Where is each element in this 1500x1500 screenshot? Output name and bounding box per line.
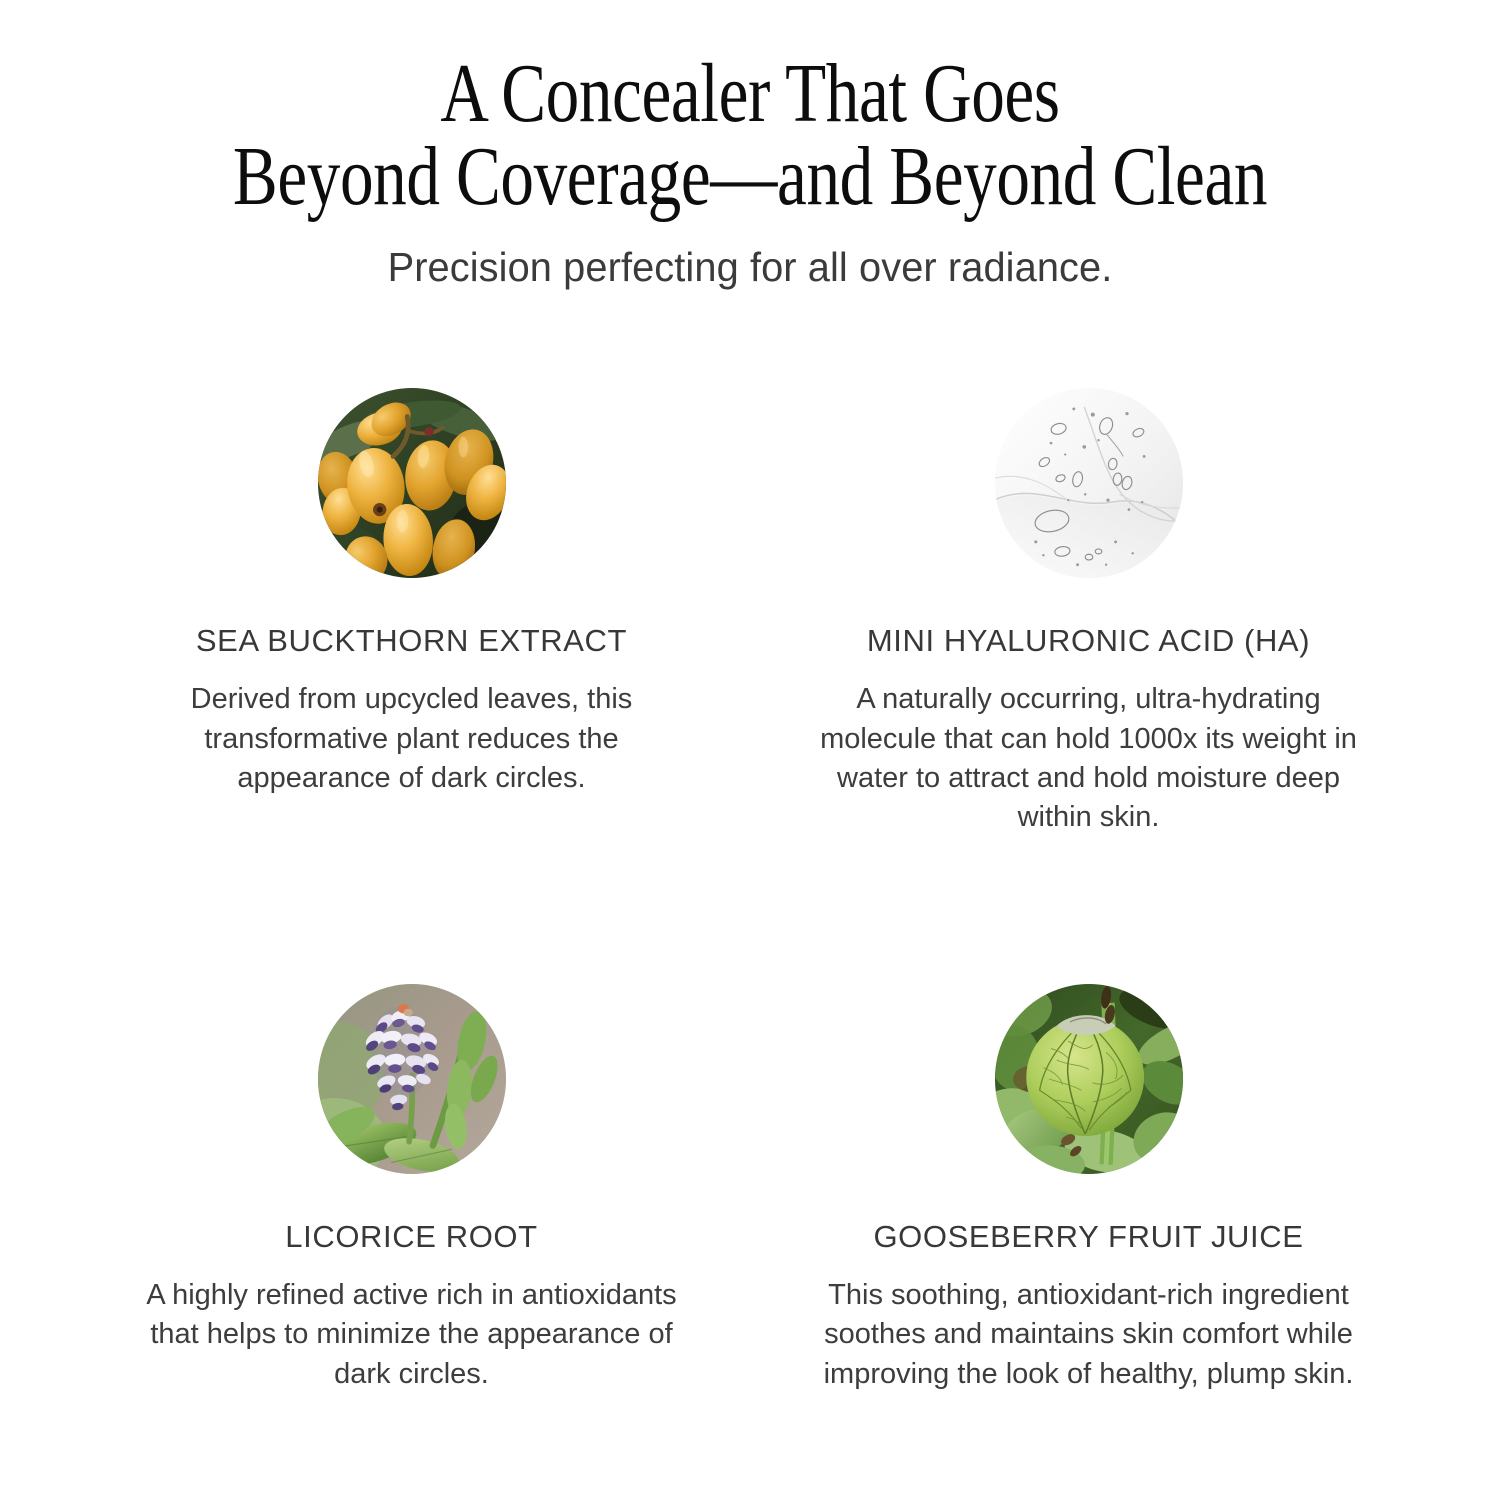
ingredient-description: A highly refined active rich in antioxid…: [132, 1276, 692, 1394]
ingredient-description: This soothing, antioxidant-rich ingredie…: [809, 1276, 1369, 1394]
licorice-root-flower-photo: [318, 984, 506, 1174]
media-wrap: [75, 388, 748, 578]
page-title: A Concealer That Goes Beyond Coverage—an…: [150, 52, 1350, 218]
ingredient-title: LICORICE ROOT: [75, 1220, 748, 1254]
media-wrap: [752, 388, 1425, 578]
ingredients-grid: SEA BUCKTHORN EXTRACT Derived from upcyc…: [75, 388, 1425, 1394]
media-wrap: [752, 984, 1425, 1174]
headline-line-1: A Concealer That Goes: [150, 52, 1350, 135]
ingredient-description: Derived from upcycled leaves, this trans…: [152, 680, 672, 798]
sea-buckthorn-berries-photo: [318, 388, 506, 578]
gooseberry-fruit-photo: [995, 984, 1183, 1174]
ingredient-title: SEA BUCKTHORN EXTRACT: [75, 624, 748, 658]
ingredient-title: MINI HYALURONIC ACID (HA): [752, 624, 1425, 658]
page-header: A Concealer That Goes Beyond Coverage—an…: [0, 52, 1500, 291]
ingredient-card: SEA BUCKTHORN EXTRACT Derived from upcyc…: [75, 388, 748, 838]
ingredient-benefits-page: A Concealer That Goes Beyond Coverage—an…: [0, 0, 1500, 1500]
headline-line-2: Beyond Coverage—and Beyond Clean: [150, 135, 1350, 218]
ingredient-card: GOOSEBERRY FRUIT JUICE This soothing, an…: [752, 984, 1425, 1394]
ingredient-card: LICORICE ROOT A highly refined active ri…: [75, 984, 748, 1394]
ingredient-title: GOOSEBERRY FRUIT JUICE: [752, 1220, 1425, 1254]
media-wrap: [75, 984, 748, 1174]
ingredient-description: A naturally occurring, ultra-hydrating m…: [809, 680, 1369, 838]
hyaluronic-acid-gel-photo: [995, 388, 1183, 578]
page-subtitle: Precision perfecting for all over radian…: [23, 244, 1478, 291]
ingredient-card: MINI HYALURONIC ACID (HA) A naturally oc…: [752, 388, 1425, 838]
